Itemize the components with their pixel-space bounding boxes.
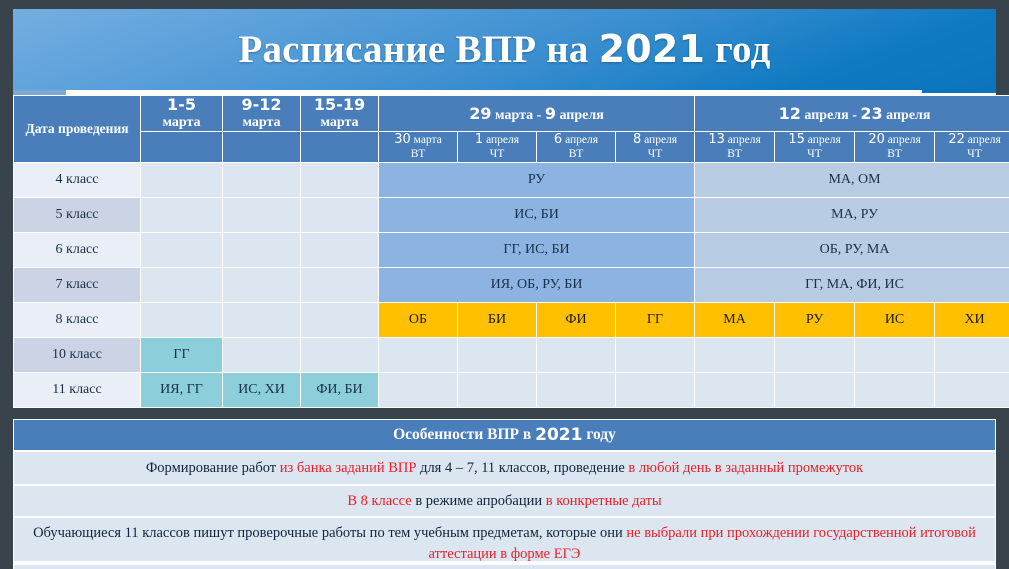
week-cell	[223, 267, 301, 302]
table-row: 4 классРУМА, ОМ	[14, 162, 1009, 197]
notes-banner-after: году	[586, 426, 616, 444]
note-highlight: из банка заданий ВПР	[280, 460, 417, 476]
week-cell	[301, 197, 379, 232]
week-cell	[223, 302, 301, 337]
header-week-2: 9-12 марта	[223, 96, 301, 132]
header-day-5-num: 13	[708, 132, 725, 147]
header-day-3-weekday: ВТ	[569, 148, 584, 160]
header-week-3: 15-19 марта	[301, 96, 379, 132]
week-cell	[141, 302, 223, 337]
group-2-dash: -	[852, 108, 857, 123]
note-highlight: в конкретные даты	[546, 493, 662, 509]
week-cell	[301, 337, 379, 372]
title-year: 2021	[599, 27, 706, 71]
row-label-grade: 7 класс	[14, 267, 141, 302]
group-cell-left: ГГ, ИС, БИ	[379, 232, 695, 267]
notes-banner-year: 2021	[535, 425, 582, 445]
note-line-2: В 8 классе в режиме апробации в конкретн…	[13, 485, 996, 517]
header-day-7-weekday: ВТ	[887, 148, 902, 160]
group-cell-right: МА, РУ	[695, 197, 1009, 232]
group-cell-right: МА, ОМ	[695, 162, 1009, 197]
group-1-month2: апреля	[559, 108, 603, 123]
header-day-4-num: 8	[633, 132, 641, 147]
day-cell: ФИ	[537, 302, 616, 337]
page-title: Расписание ВПР на 2021 год	[238, 27, 770, 72]
note-line-3-text: Обучающиеся 11 классов пишут проверочные…	[24, 523, 985, 564]
table-row: 5 классИС, БИМА, РУ	[14, 197, 1009, 232]
title-before: Расписание ВПР на	[238, 28, 588, 71]
table-row: 11 классИЯ, ГГИС, ХИФИ, БИ	[14, 372, 1009, 407]
table-row: 6 классГГ, ИС, БИОБ, РУ, МА	[14, 232, 1009, 267]
group-2-month1: апреля	[804, 108, 848, 123]
notes-banner-before: Особенности ВПР в	[393, 426, 531, 444]
group-cell-left: ИЯ, ОБ, РУ, БИ	[379, 267, 695, 302]
week-cell: ФИ, БИ	[301, 372, 379, 407]
row-label-grade: 6 класс	[14, 232, 141, 267]
header-day-8-weekday: ЧТ	[967, 148, 982, 160]
header-row-ranges: Дата проведения 1-5 марта 9-12 марта 15-…	[14, 96, 1009, 132]
group-cell-right: ОБ, РУ, МА	[695, 232, 1009, 267]
day-cell	[935, 372, 1009, 407]
header-week-1-blank	[141, 132, 223, 163]
header-day-2: 1 апреля ЧТ	[458, 132, 537, 163]
day-cell	[458, 372, 537, 407]
header-week-1: 1-5 марта	[141, 96, 223, 132]
table-body: 4 классРУМА, ОМ5 классИС, БИМА, РУ6 клас…	[14, 162, 1009, 407]
header-week-2-blank	[223, 132, 301, 163]
week-cell: ИЯ, ГГ	[141, 372, 223, 407]
note-line-1: Формирование работ из банка заданий ВПР …	[13, 451, 996, 485]
week-cell	[141, 232, 223, 267]
notes-section: Особенности ВПР в 2021 году Формирование…	[13, 419, 996, 569]
header-day-5: 13 апреля ВТ	[695, 132, 775, 163]
group-2-num2: 23	[860, 104, 882, 123]
underline-right-segment	[922, 90, 996, 93]
day-cell: ОБ	[379, 302, 458, 337]
header-day-1-month: марта	[414, 134, 442, 146]
day-cell: РУ	[775, 302, 855, 337]
day-cell	[537, 372, 616, 407]
header-day-8: 22 апреля ЧТ	[935, 132, 1009, 163]
day-cell	[775, 372, 855, 407]
row-label-grade: 5 класс	[14, 197, 141, 232]
day-cell	[616, 372, 695, 407]
header-day-3-num: 6	[554, 132, 562, 147]
note-text: в режиме апробации	[412, 493, 546, 509]
day-cell	[855, 372, 935, 407]
note-line-2-text: В 8 классе в режиме апробации в конкретн…	[24, 491, 985, 512]
week-cell	[223, 337, 301, 372]
day-cell	[935, 337, 1009, 372]
week-cell: ИС, ХИ	[223, 372, 301, 407]
group-1-month1: марта	[495, 108, 533, 123]
header-day-7: 20 апреля ВТ	[855, 132, 935, 163]
header-week-3-blank	[301, 132, 379, 163]
header-week-1-range: 1-5	[141, 96, 222, 115]
slide-root: Расписание ВПР на 2021 год Дата проведен…	[0, 0, 1009, 569]
header-day-1-num: 30	[394, 132, 411, 147]
note-highlight: в любой день в заданный промежуток	[628, 460, 863, 476]
week-cell: ГГ	[141, 337, 223, 372]
day-cell	[775, 337, 855, 372]
table-row: 8 классОББИФИГГМАРУИСХИ	[14, 302, 1009, 337]
row-label-grade: 11 класс	[14, 372, 141, 407]
notes-banner: Особенности ВПР в 2021 году	[13, 419, 996, 451]
header-day-4: 8 апреля ЧТ	[616, 132, 695, 163]
table-row: 10 классГГ	[14, 337, 1009, 372]
header-day-1-weekday: ВТ	[411, 148, 426, 160]
header-day-1: 30 марта ВТ	[379, 132, 458, 163]
day-cell: МА	[695, 302, 775, 337]
day-cell	[695, 372, 775, 407]
day-cell	[379, 337, 458, 372]
header-day-2-month: апреля	[486, 134, 519, 146]
day-cell: ГГ	[616, 302, 695, 337]
note-text: Формирование работ	[146, 460, 280, 476]
schedule-table: Дата проведения 1-5 марта 9-12 марта 15-…	[13, 95, 1009, 408]
group-1-num1: 29	[469, 104, 491, 123]
header-day-7-month: апреля	[888, 134, 921, 146]
week-cell	[301, 232, 379, 267]
day-cell	[537, 337, 616, 372]
row-label-grade: 8 класс	[14, 302, 141, 337]
day-cell	[695, 337, 775, 372]
day-cell	[379, 372, 458, 407]
day-cell: БИ	[458, 302, 537, 337]
header-day-6: 15 апреля ЧТ	[775, 132, 855, 163]
header-week-2-range: 9-12	[223, 96, 300, 115]
header-day-8-month: апреля	[968, 134, 1001, 146]
header-day-7-num: 20	[868, 132, 885, 147]
note-text: для 4 – 7, 11 классов, проведение	[416, 460, 628, 476]
schedule-sheet: Дата проведения 1-5 марта 9-12 марта 15-…	[13, 95, 996, 408]
day-cell	[616, 337, 695, 372]
week-cell	[301, 162, 379, 197]
week-cell	[301, 267, 379, 302]
header-week-1-month: марта	[162, 115, 200, 130]
group-1-num2: 9	[545, 104, 556, 123]
day-cell	[855, 337, 935, 372]
group-1-dash: -	[537, 108, 542, 123]
bottom-strip	[13, 561, 996, 565]
week-cell	[223, 162, 301, 197]
header-day-2-num: 1	[475, 132, 483, 147]
header-week-3-range: 15-19	[301, 96, 378, 115]
header-day-5-weekday: ВТ	[727, 148, 742, 160]
note-highlight: В 8 классе	[347, 493, 411, 509]
week-cell	[223, 197, 301, 232]
header-row-days: 30 марта ВТ 1 апреля ЧТ 6 апреля ВТ	[14, 132, 1009, 163]
header-day-6-num: 15	[788, 132, 805, 147]
group-cell-left: РУ	[379, 162, 695, 197]
header-day-2-weekday: ЧТ	[490, 148, 505, 160]
group-cell-right: ГГ, МА, ФИ, ИС	[695, 267, 1009, 302]
header-day-6-weekday: ЧТ	[807, 148, 822, 160]
group-2-num1: 12	[779, 104, 801, 123]
title-after: год	[715, 28, 770, 71]
group-2-month2: апреля	[886, 108, 930, 123]
header-group-2: 12 апреля - 23 апреля	[695, 96, 1009, 132]
day-cell: ХИ	[935, 302, 1009, 337]
header-day-4-month: апреля	[644, 134, 677, 146]
week-cell	[141, 197, 223, 232]
title-banner: Расписание ВПР на 2021 год	[13, 9, 996, 90]
header-week-2-month: марта	[242, 115, 280, 130]
header-date-label: Дата проведения	[14, 96, 141, 163]
day-cell: ИС	[855, 302, 935, 337]
note-text: Обучающиеся 11 классов пишут проверочные…	[33, 525, 626, 541]
week-cell	[223, 232, 301, 267]
header-day-8-num: 22	[948, 132, 965, 147]
table-head: Дата проведения 1-5 марта 9-12 марта 15-…	[14, 96, 1009, 163]
header-day-6-month: апреля	[808, 134, 841, 146]
week-cell	[301, 302, 379, 337]
week-cell	[141, 162, 223, 197]
row-label-grade: 4 класс	[14, 162, 141, 197]
header-day-3-month: апреля	[565, 134, 598, 146]
header-week-3-month: марта	[320, 115, 358, 130]
header-day-4-weekday: ЧТ	[648, 148, 663, 160]
week-cell	[141, 267, 223, 302]
group-cell-left: ИС, БИ	[379, 197, 695, 232]
row-label-grade: 10 класс	[14, 337, 141, 372]
table-row: 7 классИЯ, ОБ, РУ, БИГГ, МА, ФИ, ИС	[14, 267, 1009, 302]
header-day-5-month: апреля	[728, 134, 761, 146]
header-group-1: 29 марта - 9 апреля	[379, 96, 695, 132]
note-line-1-text: Формирование работ из банка заданий ВПР …	[24, 458, 985, 479]
header-day-3: 6 апреля ВТ	[537, 132, 616, 163]
day-cell	[458, 337, 537, 372]
